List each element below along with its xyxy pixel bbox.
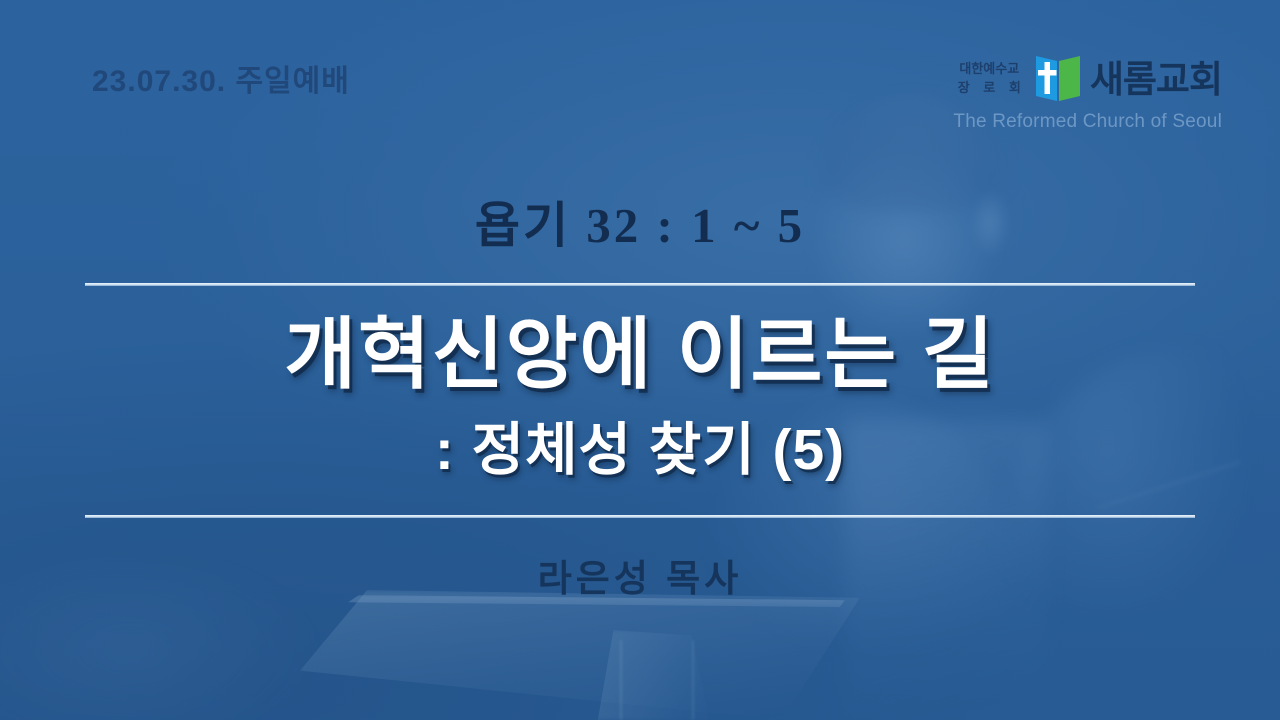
divider-bottom xyxy=(85,515,1195,518)
church-logo: 대한예수교 장 로 회 새롬교회 The Reformed Church of … xyxy=(922,50,1222,136)
denomination-line-2: 장 로 회 xyxy=(953,79,1026,98)
church-name-korean: 새롬교회 xyxy=(1090,61,1222,98)
sermon-title: 개혁신앙에 이르는 길 xyxy=(0,313,1280,396)
sermon-title-slide: 23.07.30. 주일예배 대한예수교 장 로 회 새롬교회 The Refo… xyxy=(0,0,1280,720)
speaker-name: 라은성 목사 xyxy=(0,548,1280,602)
service-date-label: 23.07.30. 주일예배 xyxy=(92,56,350,100)
denomination-text: 대한예수교 장 로 회 xyxy=(953,60,1026,98)
denomination-line-1: 대한예수교 xyxy=(953,60,1026,79)
divider-top xyxy=(85,283,1195,286)
sermon-subtitle: : 정체성 찾기 (5) xyxy=(0,420,1280,482)
church-name-english: The Reformed Church of Seoul xyxy=(922,111,1222,133)
open-bible-cross-icon xyxy=(1032,54,1084,104)
scripture-reference: 욥기 32 : 1 ~ 5 xyxy=(0,186,1280,257)
church-logo-row: 대한예수교 장 로 회 새롬교회 xyxy=(922,50,1222,108)
